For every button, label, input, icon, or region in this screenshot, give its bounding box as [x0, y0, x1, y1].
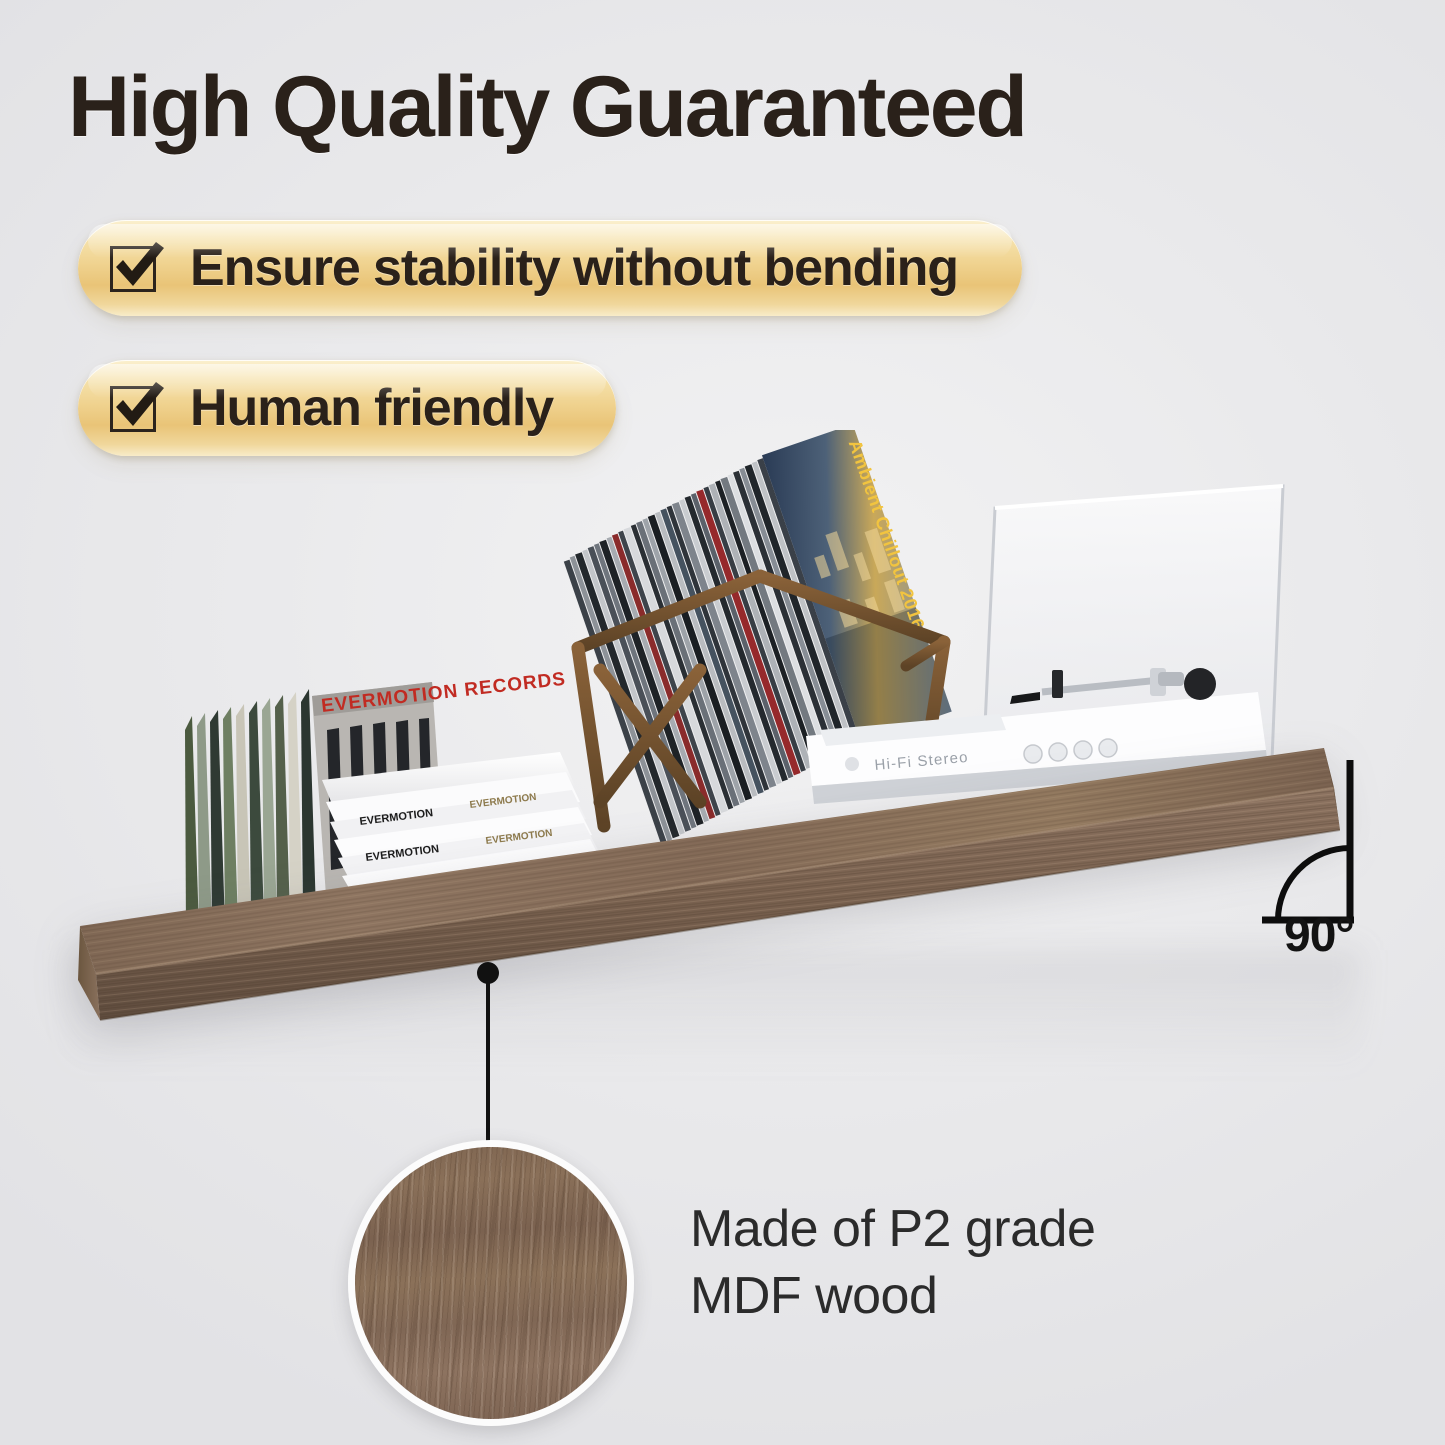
floating-shelf-plank: [72, 730, 1340, 1050]
material-caption-line-1: Made of P2 grade: [690, 1196, 1095, 1263]
callout-leader-line: [486, 980, 490, 1150]
checkbox-checked-icon: [108, 240, 164, 296]
svg-text:EVERMOTION RECORDS: EVERMOTION RECORDS: [320, 669, 567, 717]
feature-badge-stability: Ensure stability without bending: [78, 220, 1022, 316]
wood-texture-magnifier: [348, 1140, 634, 1426]
page-title: High Quality Guaranteed: [68, 62, 1026, 152]
feature-badge-label: Ensure stability without bending: [190, 238, 958, 298]
material-caption: Made of P2 grade MDF wood: [690, 1196, 1095, 1329]
material-caption-line-2: MDF wood: [690, 1263, 1095, 1330]
feature-badge-label: Human friendly: [190, 378, 553, 438]
checkbox-checked-icon: [108, 380, 164, 436]
infographic-page: High Quality Guaranteed Ensure stability…: [0, 0, 1445, 1445]
angle-value-label: 90°: [1284, 908, 1354, 963]
product-photo-scene: EVERMOTION RECORDS EVERMOTION EVERMOTION…: [0, 430, 1445, 1110]
